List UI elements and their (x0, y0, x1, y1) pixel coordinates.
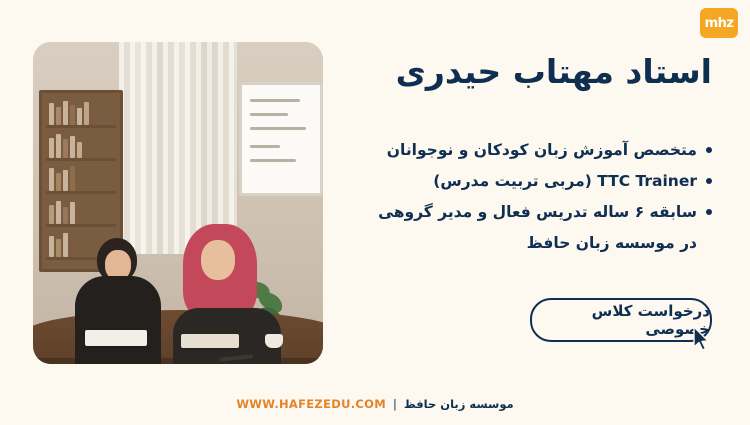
page-title: استاد مهتاب حیدری (292, 52, 712, 91)
list-item-label: TTC Trainer (مربی تربیت مدرس) (433, 169, 697, 193)
footer: موسسه زبان حافظ | WWW.HAFEZEDU.COM (0, 397, 750, 411)
brand-logo-text: mhz (705, 16, 734, 31)
list-item-continuation: در موسسه زبان حافظ (282, 231, 712, 255)
list-item-label: در موسسه زبان حافظ (527, 231, 697, 255)
bullet-dot-icon (706, 147, 712, 153)
list-item: سابقه ۶ ساله تدریس فعال و مدیر گروهی (282, 200, 712, 224)
list-item: متخصص آموزش زبان کودکان و نوجوانان (282, 138, 712, 162)
list-item-label: متخصص آموزش زبان کودکان و نوجوانان (387, 138, 697, 162)
list-item-label: سابقه ۶ ساله تدریس فعال و مدیر گروهی (378, 200, 697, 224)
cta-label: درخواست کلاس خصوصی (532, 302, 710, 338)
photo-notebook (85, 330, 147, 346)
instructor-photo (33, 42, 323, 364)
photo-cup (265, 334, 283, 348)
promo-banner: mhz (0, 0, 750, 425)
photo-book (181, 334, 239, 348)
photo-window-curtain (119, 42, 237, 254)
feature-list: متخصص آموزش زبان کودکان و نوجوانان TTC T… (282, 138, 712, 262)
footer-website[interactable]: WWW.HAFEZEDU.COM (236, 397, 386, 411)
mouse-cursor-icon (692, 326, 710, 352)
brand-logo[interactable]: mhz (700, 8, 738, 38)
bullet-dot-icon (706, 178, 712, 184)
request-private-class-button[interactable]: درخواست کلاس خصوصی (530, 298, 712, 342)
list-item: TTC Trainer (مربی تربیت مدرس) (282, 169, 712, 193)
footer-separator: | (393, 397, 397, 411)
bullet-dot-icon (706, 209, 712, 215)
footer-institute: موسسه زبان حافظ (404, 397, 514, 411)
photo-scene (33, 42, 323, 364)
